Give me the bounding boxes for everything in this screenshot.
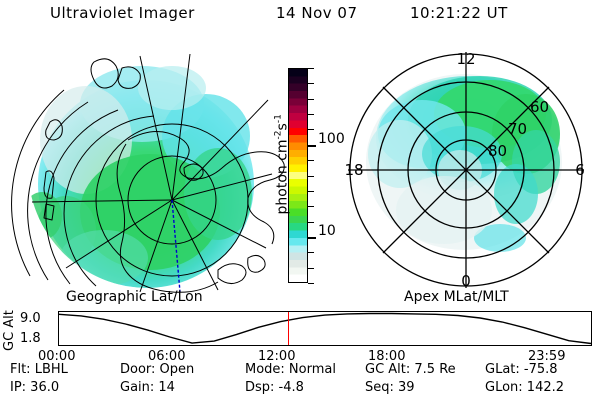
mlt-label-18: 18: [344, 161, 363, 179]
uvi-display: Ultraviolet Imager 14 Nov 07 10:21:22 UT: [0, 0, 600, 400]
current-time-marker: [288, 312, 289, 345]
mlt-label-12: 12: [456, 50, 475, 68]
caption-geographic: Geographic Lat/Lon: [66, 289, 203, 305]
orbit-altitude-curve: [59, 312, 591, 345]
mlt-spokes: [348, 52, 584, 288]
magnetic-panel[interactable]: 12 6 0 18 60 70 80: [340, 42, 592, 294]
status-filter: Flt: LBHL: [10, 362, 68, 377]
mlat-label-70: 70: [508, 120, 527, 138]
orbit-ytick-low: 1.8: [20, 331, 41, 346]
caption-magnetic: Apex MLat/MLT: [404, 289, 509, 305]
mlt-label-0: 0: [461, 272, 471, 290]
colorbar-axis-title-mid: s: [274, 123, 290, 130]
geographic-panel[interactable]: [22, 44, 274, 292]
mlat-label-60: 60: [530, 98, 549, 116]
status-mode: Mode: Normal: [245, 362, 336, 377]
orbit-plot-box: [58, 311, 592, 346]
colorbar-label-10: 10: [318, 224, 336, 238]
orbit-ytick-high: 9.0: [20, 311, 41, 326]
geographic-plot: [22, 44, 274, 292]
orbit-altitude-strip[interactable]: GC Alt 9.0 1.8 00:00 06:00 12:00 18:00 2…: [0, 305, 600, 360]
colorbar-gradient-box: [288, 68, 308, 283]
status-gain: Gain: 14: [120, 380, 175, 395]
status-ip: IP: 36.0: [10, 380, 59, 395]
status-gc-alt: GC Alt: 7.5 Re: [365, 362, 456, 377]
status-door: Door: Open: [120, 362, 194, 377]
status-dsp: Dsp: -4.8: [245, 380, 304, 395]
colorbar-ticks: [308, 68, 315, 283]
status-glat: GLat: -75.8: [485, 362, 558, 377]
colorbar[interactable]: 100 10 photon cm-2s-1: [262, 60, 342, 295]
mlat-label-80: 80: [488, 142, 507, 160]
observation-time: 10:21:22 UT: [410, 4, 508, 22]
colorbar-axis-title-main: photon cm: [274, 139, 290, 214]
status-glon: GLon: 142.2: [485, 380, 564, 395]
observation-date: 14 Nov 07: [276, 4, 358, 22]
colorbar-axis-title-sup1: -2: [274, 130, 284, 139]
mlt-label-6: 6: [575, 161, 585, 179]
instrument-title: Ultraviolet Imager: [50, 4, 195, 22]
colorbar-axis-title: photon cm-2s-1: [274, 84, 291, 244]
status-seq: Seq: 39: [365, 380, 415, 395]
colorbar-axis-title-sup2: -1: [274, 114, 284, 123]
mlt-dial-plot: 12 6 0 18 60 70 80: [340, 42, 592, 294]
colorbar-gradient: [289, 69, 307, 282]
status-footer: Flt: LBHL IP: 36.0 Door: Open Gain: 14 M…: [0, 362, 600, 400]
aurora-emission-geographic: [22, 66, 254, 288]
header-bar: Ultraviolet Imager 14 Nov 07 10:21:22 UT: [0, 4, 600, 28]
